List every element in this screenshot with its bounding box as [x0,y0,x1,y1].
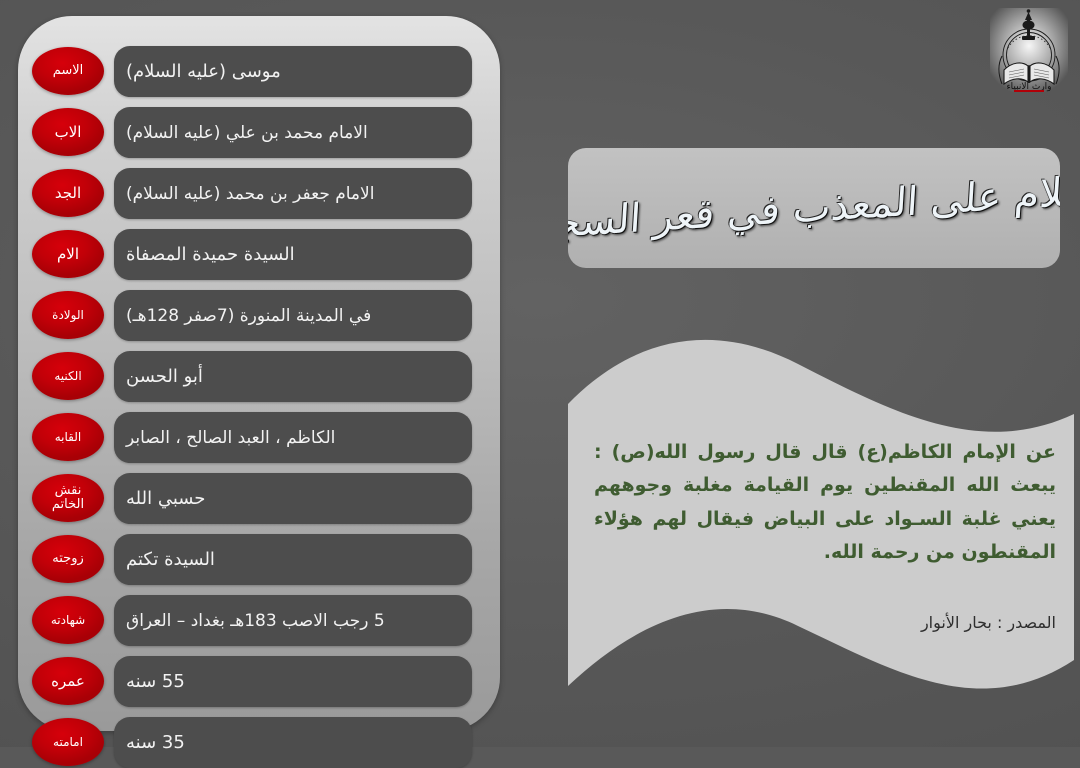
calligraphy-banner: السلام على المعذب في قعر السجون [568,148,1060,268]
info-row: 55 سنهعمره [18,656,500,707]
label-line: الاب [55,124,82,140]
info-row: السيدة حميدة المصفاةالام [18,229,500,280]
info-row: أبو الحسنالكنيه [18,351,500,402]
info-row: 35 سنهامامته [18,717,500,768]
label-line: القابه [55,431,82,444]
info-row-value: الامام جعفر بن محمد (عليه السلام) [114,168,472,219]
info-row-label-1: الاب [32,108,104,156]
info-row-value: الكاظم ، العبد الصالح ، الصابر [114,412,472,463]
info-row-label-9: شهادته [32,596,104,644]
info-row-value: 35 سنه [114,717,472,768]
info-row-value: في المدينة المنورة (7صفر 128هـ) [114,290,472,341]
info-row-label-6: القابه [32,413,104,461]
info-row-label-8: زوجته [32,535,104,583]
info-row: الامام جعفر بن محمد (عليه السلام)الجد [18,168,500,219]
info-row-label-2: الجد [32,169,104,217]
info-row-label-11: امامته [32,718,104,766]
info-row-value: الامام محمد بن علي (عليه السلام) [114,107,472,158]
info-row: حسبي اللهنقشالخاتم [18,473,500,524]
info-row: موسى (عليه السلام)الاسم [18,46,500,97]
info-row-value: السيدة تكتم [114,534,472,585]
info-row-value: 55 سنه [114,656,472,707]
label-line: عمره [51,673,85,689]
info-row: الامام محمد بن علي (عليه السلام)الاب [18,107,500,158]
label-line: الام [57,246,79,262]
info-row-label-7: نقشالخاتم [32,474,104,522]
info-row-value: أبو الحسن [114,351,472,402]
info-row-label-5: الكنيه [32,352,104,400]
info-row-label-4: الولادة [32,291,104,339]
label-line: زوجته [52,552,83,566]
label-line: الجد [55,185,81,201]
info-row-value: 5 رجب الاصب 183هـ بغداد – العراق [114,595,472,646]
info-row: السيدة تكتمزوجته [18,534,500,585]
hadith-flag-panel: عن الإمام الكاظم(ع) قال قال رسول الله(ص)… [562,330,1080,747]
university-logo: وارث الانبياء [990,8,1068,92]
info-row-value: السيدة حميدة المصفاة [114,229,472,280]
hadith-text: عن الإمام الكاظم(ع) قال قال رسول الله(ص)… [586,436,1056,569]
label-line: شهادته [51,614,85,627]
label-line: الاسم [53,64,84,78]
info-row-label-3: الام [32,230,104,278]
hadith-content: عن الإمام الكاظم(ع) قال قال رسول الله(ص)… [586,436,1056,632]
label-line: الكنيه [54,370,81,383]
label-line: الخاتم [52,498,84,512]
label-line: الولادة [52,309,84,322]
info-row-label-10: عمره [32,657,104,705]
calligraphy-text: السلام على المعذب في قعر السجون [568,148,1060,268]
info-row: الكاظم ، العبد الصالح ، الصابرالقابه [18,412,500,463]
info-rows-list: موسى (عليه السلام)الاسمالامام محمد بن عل… [18,16,500,731]
info-row: في المدينة المنورة (7صفر 128هـ)الولادة [18,290,500,341]
hadith-source: المصدر : بحار الأنوار [586,613,1056,632]
info-row-value: حسبي الله [114,473,472,524]
info-row: 5 رجب الاصب 183هـ بغداد – العراقشهادته [18,595,500,646]
info-row-value: موسى (عليه السلام) [114,46,472,97]
label-line: نقش [55,484,82,498]
infographic-canvas: موسى (عليه السلام)الاسمالامام محمد بن عل… [0,0,1080,747]
info-row-label-0: الاسم [32,47,104,95]
